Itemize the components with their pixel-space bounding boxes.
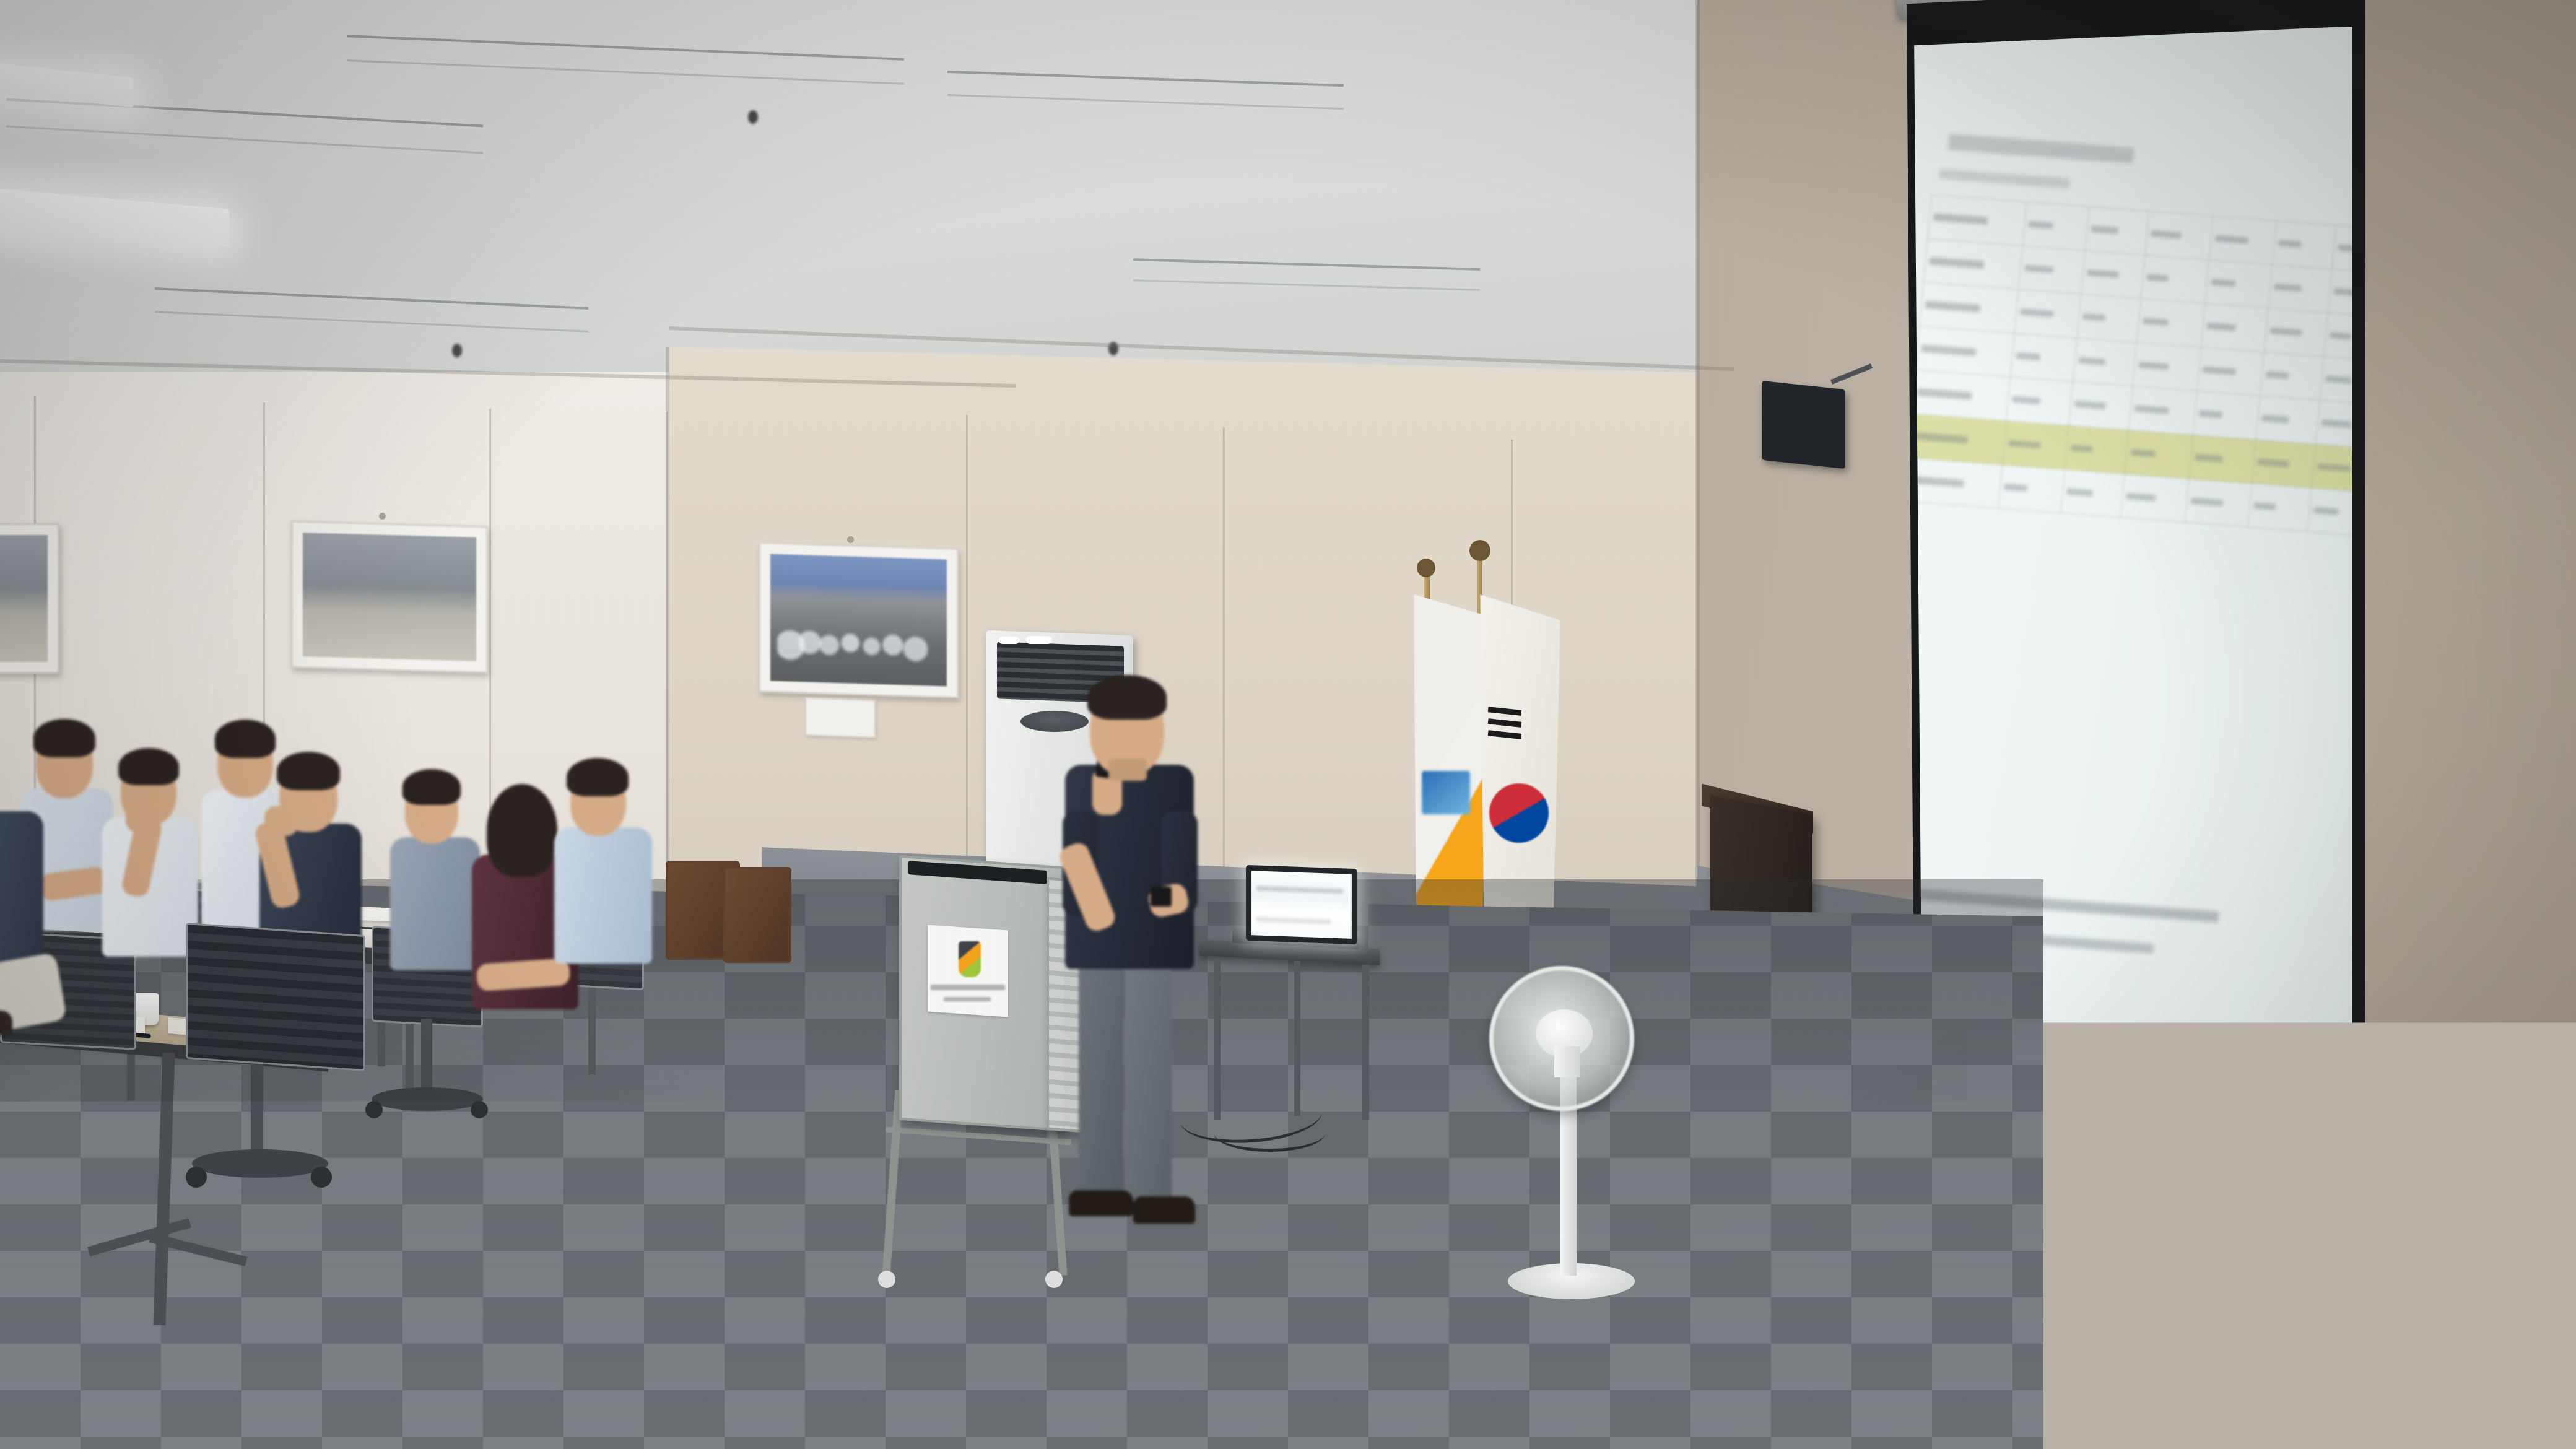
flagpole-finial-icon <box>1417 559 1435 577</box>
slide-table-cell <box>2268 264 2332 313</box>
slide-table-cell <box>2006 376 2073 425</box>
slide-cell-text <box>2338 244 2352 252</box>
presenter-hair <box>1087 675 1167 720</box>
slide-cell-text <box>2012 396 2040 404</box>
slide-cell-text <box>2138 361 2169 370</box>
slide-cell-text <box>2151 230 2182 238</box>
slide-table-cell <box>2073 337 2137 386</box>
slide-table-cell <box>2193 391 2260 439</box>
slide-cell-text <box>1913 432 1968 443</box>
slide-table-cell <box>2209 215 2276 264</box>
slide-table-cell <box>2125 430 2193 478</box>
slide-cell-text <box>2261 415 2289 423</box>
presenter-wristwatch <box>1151 887 1172 907</box>
audience-hair <box>402 769 461 805</box>
chair-caster <box>311 1167 332 1188</box>
slide-table-cell <box>2121 474 2189 522</box>
laptop-side-table-leg <box>1362 965 1369 1120</box>
slide-subtitle-text <box>1939 169 2069 189</box>
slide-table-cell <box>2141 255 2209 303</box>
audience-hair <box>277 752 340 790</box>
slide-table-cell <box>2081 250 2145 298</box>
slide-table-cell <box>1912 370 2011 420</box>
slide-cell-text <box>2070 445 2092 453</box>
slide-table-cell <box>2002 420 2068 469</box>
slide-table-cell <box>2272 220 2336 269</box>
slide-table-cell <box>2308 487 2352 536</box>
slide-cell-text <box>2269 327 2302 336</box>
slide-cell-text <box>2278 240 2301 248</box>
slide-table-cell <box>1915 326 2014 376</box>
slide-cell-text <box>2330 332 2351 340</box>
ceiling-sensor-icon <box>748 110 758 124</box>
photo-image <box>770 554 947 687</box>
slide-table-cell <box>2076 294 2141 342</box>
chair-base <box>192 1149 328 1178</box>
photo-people-row <box>777 605 939 676</box>
organization-flag-emblem-icon <box>1422 771 1470 814</box>
air-conditioner-led-icon <box>1026 636 1052 644</box>
slide-table-cell <box>2133 342 2201 391</box>
slide-cell-text <box>2086 269 2118 278</box>
slide-table-cell <box>1907 414 2006 464</box>
slide-table-cell <box>2022 202 2089 250</box>
slide-cell-text <box>2020 308 2053 317</box>
slide-cell-text <box>2211 279 2235 287</box>
office-chair-foreground <box>186 923 365 1071</box>
slide-cell-text <box>2147 274 2169 282</box>
easel-caster-icon <box>1045 1271 1063 1288</box>
audience-shirt <box>0 811 43 966</box>
chair-base <box>372 1087 483 1111</box>
slide-cell-text <box>2321 419 2352 428</box>
slide-cell-text <box>2190 497 2223 506</box>
presenter <box>1040 656 1238 1238</box>
audience-hand <box>126 803 158 832</box>
audience-member-8 <box>0 774 56 1022</box>
presenter-shoe <box>1069 1190 1133 1216</box>
visitor-chair-wood <box>723 867 791 963</box>
organization-logo-subtext <box>944 997 991 1001</box>
slide-cell-text <box>2078 357 2105 365</box>
slide-table-cell <box>2328 269 2352 317</box>
slide-cell-text <box>1921 344 1976 356</box>
wall-speaker <box>1762 381 1845 469</box>
photo-image <box>0 535 48 662</box>
partition-joint <box>666 412 668 916</box>
slide-table-cell <box>2201 303 2268 352</box>
presenter-neck <box>1108 759 1147 781</box>
slide-table-cell <box>2145 211 2213 259</box>
slide-table-cell <box>2137 298 2205 347</box>
slide-cell-text <box>2004 484 2027 492</box>
slide-cell-text <box>2266 371 2289 379</box>
laptop-screen <box>1246 865 1357 944</box>
slide-table-cell <box>2324 313 2352 361</box>
slide-cell-text <box>2082 313 2105 321</box>
slide-table-cell <box>2316 400 2352 448</box>
slide-title-text <box>1948 134 2135 163</box>
slide-table-cell <box>1998 464 2065 513</box>
slide-table-cell <box>2065 425 2129 474</box>
slide-table-cell <box>1923 238 2022 289</box>
slide-cell-text <box>2126 493 2156 501</box>
slide-table-cell <box>2011 333 2077 381</box>
chair-backrest <box>186 923 365 1071</box>
slide-cell-text <box>2203 366 2236 375</box>
slide-table-cell <box>2312 444 2352 492</box>
audience-hair <box>118 748 179 785</box>
slide-cell-text <box>2214 235 2248 243</box>
chair-caster <box>471 1101 488 1118</box>
slide-cell-text <box>2016 352 2040 360</box>
slide-cell-text <box>2198 410 2222 418</box>
slide-table-cell <box>2197 347 2264 395</box>
fan-neck <box>1554 1046 1580 1077</box>
slide-table-cell <box>2185 478 2252 526</box>
presenter-shoe <box>1133 1196 1195 1224</box>
slide-table-cell <box>2085 206 2149 255</box>
slide-cell-text <box>2130 449 2156 457</box>
slide-table-cell <box>2060 469 2125 517</box>
slide-table-cell <box>2129 386 2197 434</box>
slide-table-cell <box>2014 289 2081 337</box>
slide-cell-text <box>1925 300 1980 312</box>
ceiling-sensor-icon <box>452 344 462 357</box>
slide-table-cell <box>2248 483 2312 531</box>
slide-cell-text <box>2318 463 2352 472</box>
partition-joint <box>966 415 968 916</box>
slide-table-cell <box>1928 194 2027 245</box>
ceiling <box>0 0 1951 396</box>
audience-hair-long <box>487 784 557 877</box>
audience-member-7 <box>548 754 659 965</box>
slide-table-cell <box>1920 282 2019 333</box>
slide-table-cell <box>2264 308 2328 356</box>
slide-cell-text <box>2143 318 2169 326</box>
slide-table-cell <box>2320 356 2352 404</box>
framed-photo-group <box>759 542 959 698</box>
picture-hook-icon <box>379 513 386 520</box>
chair-caster <box>365 1101 383 1118</box>
slide-table-cell <box>2260 352 2324 400</box>
easel-caster-icon <box>878 1271 895 1288</box>
flagpole-finial-icon <box>1469 540 1490 561</box>
slide-table-cell <box>2019 245 2085 294</box>
slide-table-cell <box>2256 396 2320 444</box>
chair-backrest <box>723 867 791 963</box>
slide-cell-text <box>2274 284 2302 292</box>
audience-hand <box>264 806 298 836</box>
framed-photo-left <box>291 521 488 674</box>
slide-table-cell <box>2068 381 2133 430</box>
slide-cell-text <box>2008 440 2041 448</box>
slide-table <box>1903 194 2352 537</box>
slide-cell-text <box>2134 405 2169 414</box>
framed-photo-edge <box>0 523 59 674</box>
slide-cell-text <box>2024 264 2053 272</box>
audience-hair <box>33 719 95 757</box>
presenter-leg <box>1079 954 1123 1201</box>
slide-table-cell <box>2332 225 2352 273</box>
slide-table-cell <box>2205 259 2272 308</box>
slide-cell-text <box>2326 375 2352 383</box>
slide-cell-text <box>2091 225 2118 233</box>
slide-cell-text <box>1929 257 1984 269</box>
photo-scene <box>0 0 2576 1449</box>
slide-cell-text <box>2206 323 2235 331</box>
slide-cell-text <box>2253 502 2276 510</box>
audience-hair <box>567 758 629 796</box>
chair-caster <box>186 1167 207 1188</box>
slide-cell-text <box>1933 213 1988 225</box>
audience-shirt <box>554 827 652 964</box>
slide-cell-text <box>2195 454 2223 462</box>
slide-table-cell <box>2252 439 2316 487</box>
organization-logo-icon <box>959 941 981 977</box>
photo-image <box>303 533 476 661</box>
slide-table-cell <box>2188 435 2255 483</box>
slide-cell-text <box>2258 458 2289 467</box>
slide-cell-text <box>2029 221 2053 229</box>
slide-cell-text <box>2313 507 2339 515</box>
organization-logo-wordmark <box>931 985 1005 990</box>
slide-cell-text <box>1917 388 1972 400</box>
chair-post <box>251 1053 263 1164</box>
air-conditioner-led-icon <box>999 637 1019 644</box>
presenter-leg <box>1125 954 1172 1207</box>
wall-name-plate <box>805 697 876 738</box>
picture-hook-icon <box>847 536 854 543</box>
laptop-screen-content-line <box>1256 885 1343 894</box>
slide-cell-text <box>2334 288 2352 297</box>
taeguk-symbol-icon <box>1489 783 1549 843</box>
laptop-screen-content-line <box>1256 916 1331 924</box>
slide-cell-text <box>2066 488 2093 496</box>
slide-cell-text <box>2074 401 2106 409</box>
slide-table-cell <box>1903 457 2002 508</box>
